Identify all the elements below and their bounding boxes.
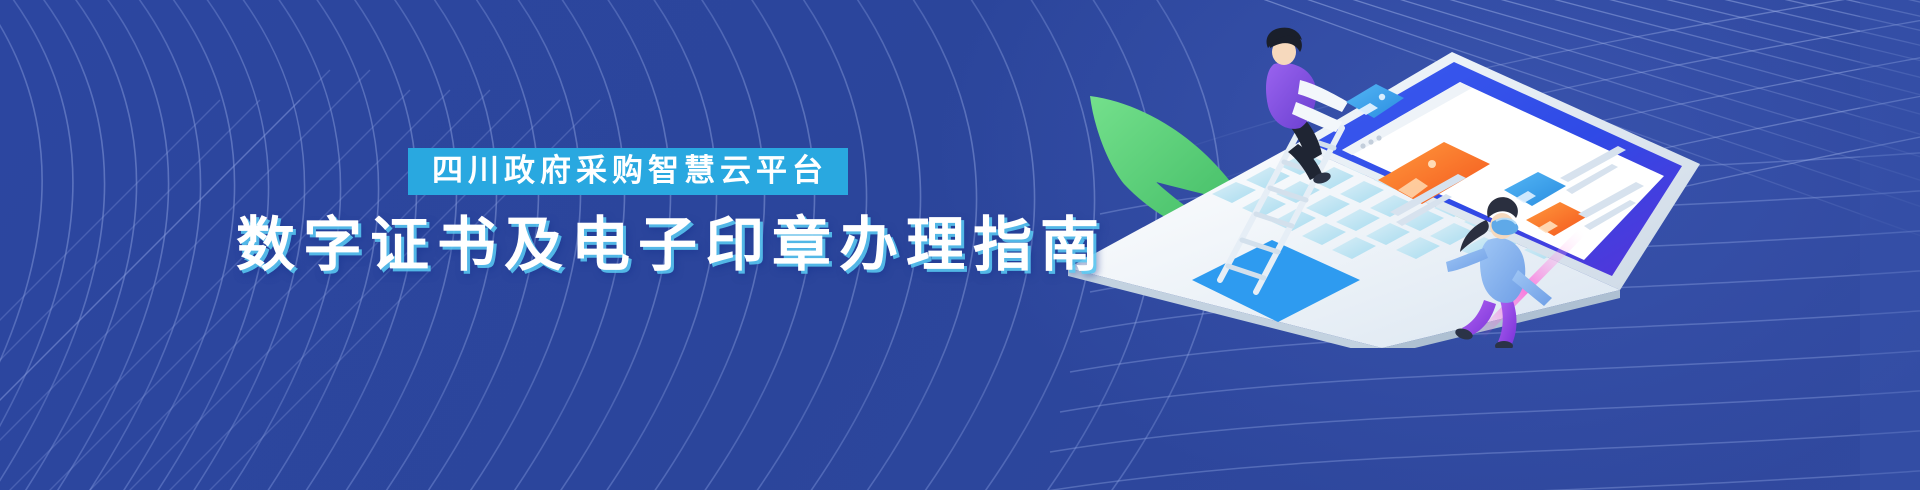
illustration-laptop-scene [1060, 18, 1700, 348]
promo-banner: 四川政府采购智慧云平台 数字证书及电子印章办理指南 [0, 0, 1920, 490]
banner-headline: 数字证书及电子印章办理指南 [236, 212, 1036, 278]
banner-text-block: 四川政府采购智慧云平台 数字证书及电子印章办理指南 [236, 148, 1036, 278]
platform-badge: 四川政府采购智慧云平台 [408, 148, 848, 195]
